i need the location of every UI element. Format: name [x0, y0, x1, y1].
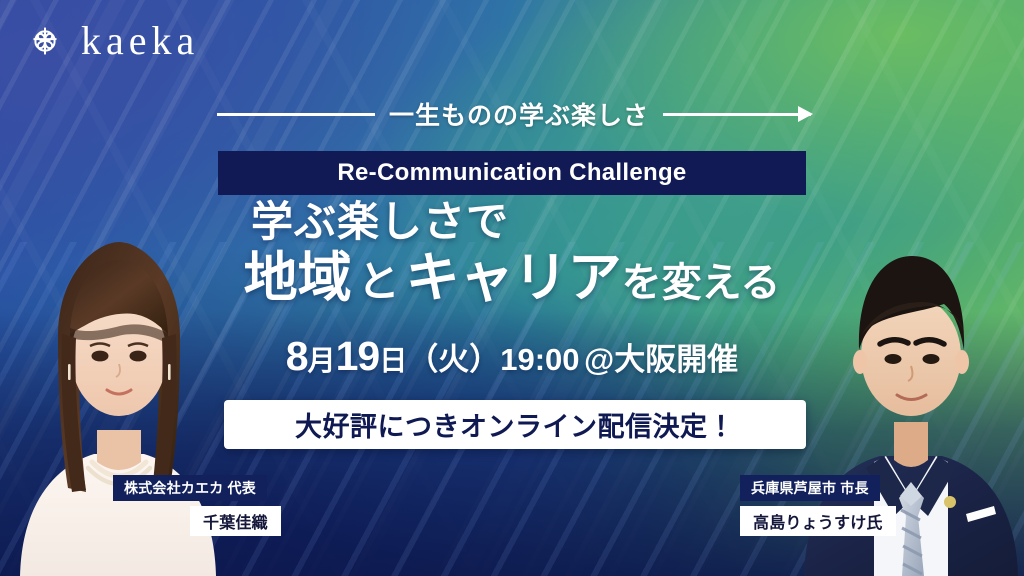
event-venue: @大阪開催 — [584, 342, 738, 377]
event-name-band: Re-Communication Challenge — [218, 151, 806, 195]
online-streaming-banner[interactable]: 大好評につきオンライン配信決定！ — [224, 400, 806, 449]
online-streaming-label: 大好評につきオンライン配信決定！ — [295, 405, 735, 444]
event-day-number: 19 — [336, 333, 380, 379]
tagline-text: 一生ものの学ぶ楽しさ — [389, 96, 649, 132]
arrow-right-icon — [663, 113, 811, 116]
event-weekday: （火） — [407, 342, 500, 377]
speaker-left-title: 株式会社カエカ 代表 — [113, 475, 267, 501]
headline-conjunction: と — [352, 258, 406, 305]
speaker-right-title: 兵庫県芦屋市 市長 — [740, 475, 880, 501]
event-time: 19:00 — [500, 342, 579, 377]
tagline-row: 一生ものの学ぶ楽しさ — [214, 97, 814, 131]
brand-logo: kaeka — [22, 18, 199, 64]
event-day-unit: 日 — [379, 345, 407, 376]
event-month-number: 8 — [286, 333, 308, 379]
brand-wordmark: kaeka — [81, 21, 199, 61]
event-month-unit: 月 — [308, 345, 336, 376]
speaker-left-name: 千葉佳織 — [190, 506, 281, 536]
headline-region-word: 地域 — [244, 248, 352, 308]
headline-tail: を変える — [622, 261, 781, 305]
headline-career-word: キャリア — [406, 248, 622, 308]
poster-canvas: kaeka 一生ものの学ぶ楽しさ Re-Communication Challe… — [0, 0, 1024, 576]
speaker-right-name: 高島りょうすけ氏 — [740, 506, 896, 536]
kaeka-knot-icon — [22, 18, 68, 64]
event-name-label: Re-Communication Challenge — [337, 159, 686, 187]
horizontal-rule-icon — [217, 113, 375, 116]
